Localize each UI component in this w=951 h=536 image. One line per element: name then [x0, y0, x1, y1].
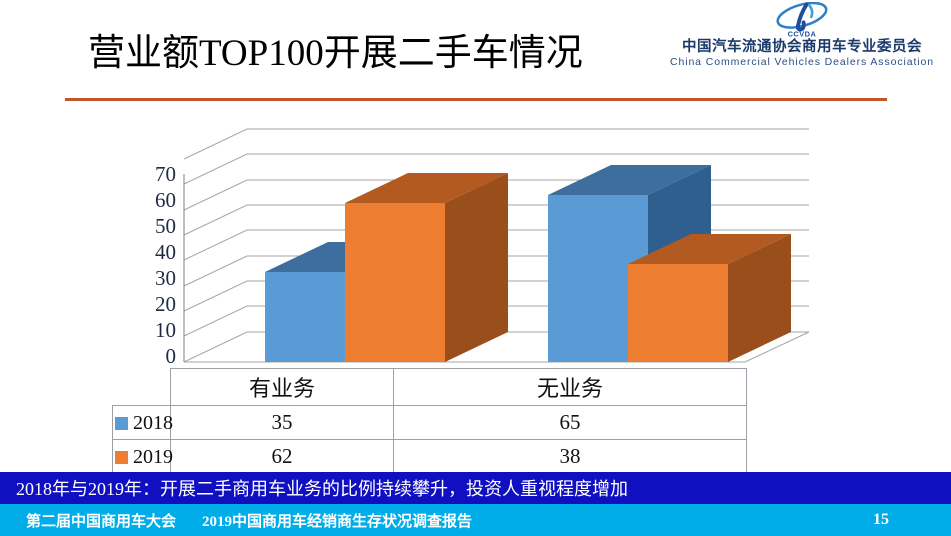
footer-event-name: 第二届中国商用车大会 [26, 510, 176, 531]
svg-text:60: 60 [155, 188, 176, 212]
table-row: 2019 62 38 [113, 440, 747, 474]
footer-left-group: 第二届中国商用车大会 2019中国商用车经销商生存状况调查报告 [26, 504, 472, 536]
table-row: 2018 35 65 [113, 406, 747, 440]
footer-report-title: 2019中国商用车经销商生存状况调查报告 [202, 510, 472, 531]
bar-2019-有业务 [345, 173, 508, 362]
title-divider-rule [65, 98, 887, 101]
svg-text:20: 20 [155, 292, 176, 316]
table-cell-2018-有业务: 35 [171, 406, 394, 440]
chart-canvas: 70 60 50 40 30 20 10 0 [0, 110, 951, 380]
legend-label-2019: 2019 [133, 446, 173, 469]
table-cell-2019-无业务: 38 [394, 440, 747, 474]
table-col-header-1: 无业务 [394, 369, 747, 406]
legend-entry-2018: 2018 [113, 406, 171, 440]
page-title: 营业额TOP100开展二手车情况 [88, 22, 583, 76]
organization-logo: CCVDA 中国汽车流通协会商用车专业委员会 China Commercial … [661, 2, 943, 68]
chart-data-table: 有业务 无业务 2018 35 65 2019 62 38 [112, 368, 747, 474]
table-header-row: 有业务 无业务 [113, 369, 747, 406]
bar-chart: 70 60 50 40 30 20 10 0 [0, 110, 951, 380]
footer-bar: 第二届中国商用车大会 2019中国商用车经销商生存状况调查报告 15 [0, 504, 951, 536]
svg-text:70: 70 [155, 162, 176, 186]
svg-text:0: 0 [166, 344, 177, 368]
svg-text:50: 50 [155, 214, 176, 238]
logo-name-en: China Commercial Vehicles Dealers Associ… [661, 56, 943, 69]
bar-2019-无业务 [628, 234, 791, 362]
table-cell-2018-无业务: 65 [394, 406, 747, 440]
table-col-header-0: 有业务 [171, 369, 394, 406]
ccvda-swoosh-logo-icon: CCVDA [755, 2, 849, 38]
legend-swatch-2019 [115, 451, 128, 464]
svg-text:10: 10 [155, 318, 176, 342]
legend-entry-2019: 2019 [113, 440, 171, 474]
y-axis-labels: 70 60 50 40 30 20 10 0 [155, 162, 176, 368]
callout-text: 2018年与2019年：开展二手商用车业务的比例持续攀升，投资人重视程度增加 [0, 475, 628, 501]
svg-text:40: 40 [155, 240, 176, 264]
table-corner-cell [113, 369, 171, 406]
logo-name-cn: 中国汽车流通协会商用车专业委员会 [661, 39, 943, 56]
footer-page-number: 15 [873, 504, 889, 536]
callout-banner: 2018年与2019年：开展二手商用车业务的比例持续攀升，投资人重视程度增加 [0, 472, 951, 504]
legend-label-2018: 2018 [133, 412, 173, 435]
svg-text:30: 30 [155, 266, 176, 290]
table-cell-2019-有业务: 62 [171, 440, 394, 474]
legend-swatch-2018 [115, 417, 128, 430]
logo-mark-text: CCVDA [788, 29, 817, 38]
